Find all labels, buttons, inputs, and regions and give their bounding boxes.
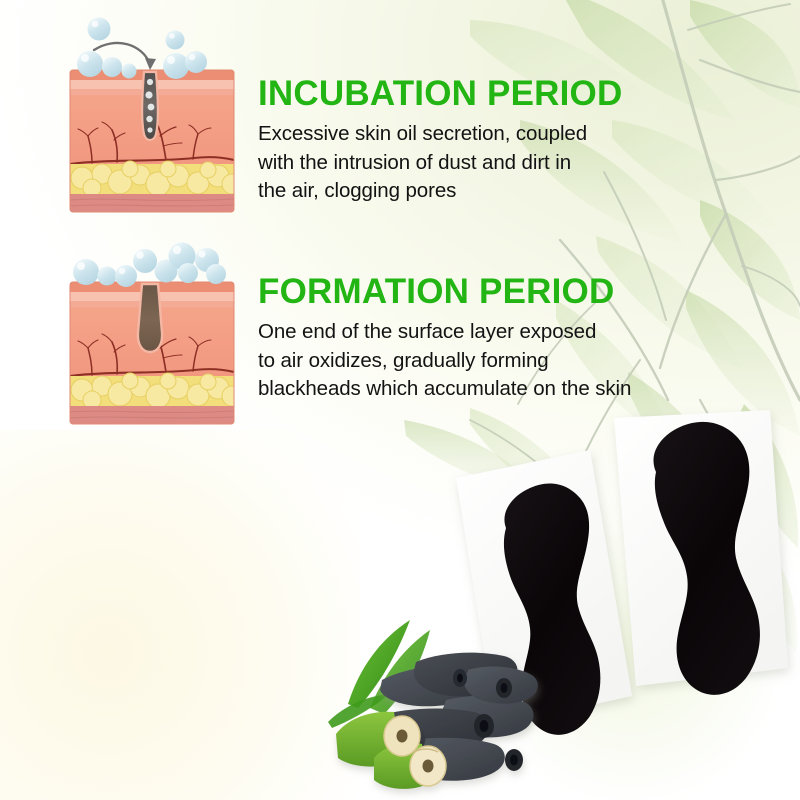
background-warm-glow [0, 430, 360, 800]
ingredient-bamboo-charcoal-photo [318, 612, 558, 800]
section-formation-text: FORMATION PERIOD One end of the surface … [258, 272, 698, 404]
heading-formation: FORMATION PERIOD [258, 272, 698, 312]
diagram-incubation-skin-cross-section [62, 12, 242, 224]
bamboo-charcoal-icon [318, 612, 558, 800]
body-line: with the intrusion of dust and dirt in [258, 149, 658, 178]
body-line: Excessive skin oil secretion, coupled [258, 120, 658, 149]
body-line: the air, clogging pores [258, 177, 658, 206]
body-line: to air oxidizes, gradually forming [258, 347, 698, 376]
body-formation: One end of the surface layer exposed to … [258, 318, 698, 404]
heading-incubation: INCUBATION PERIOD [258, 74, 658, 114]
section-incubation-text: INCUBATION PERIOD Excessive skin oil sec… [258, 74, 658, 206]
skin-cross-section-clogged-pore-icon [62, 12, 242, 224]
diagram-formation-skin-cross-section [62, 238, 242, 434]
body-line: One end of the surface layer exposed [258, 318, 698, 347]
body-incubation: Excessive skin oil secretion, coupled wi… [258, 120, 658, 206]
blackhead-plug [138, 284, 162, 352]
oil-bubbles-cluster [73, 243, 226, 288]
infographic-canvas: INCUBATION PERIOD Excessive skin oil sec… [0, 0, 800, 800]
skin-cross-section-blackhead-plug-icon [62, 238, 242, 434]
